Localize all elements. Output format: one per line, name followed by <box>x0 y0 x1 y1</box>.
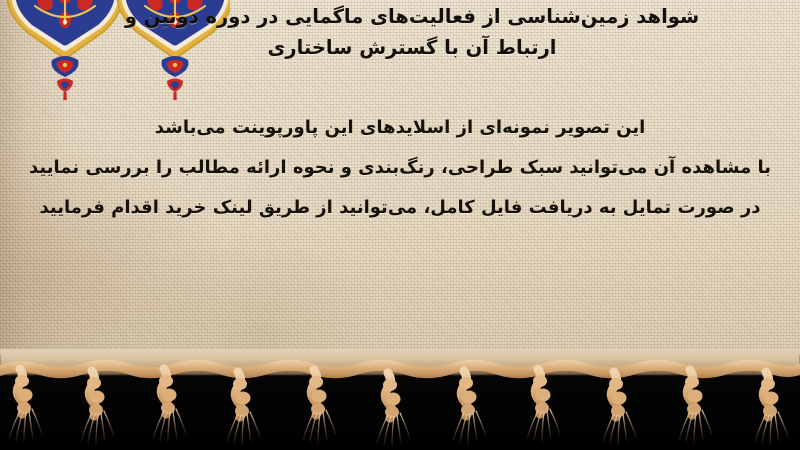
knotted-tassel-fringe-icon <box>0 345 800 450</box>
title-line-2: ارتباط آن با گسترش ساختاری <box>32 33 792 64</box>
slide-body: این تصویر نمونه‌ای از اسلایدهای این پاور… <box>10 108 790 228</box>
slide-title: شواهد زمین‌شناسی از فعالیت‌های ماگمایی د… <box>32 2 792 64</box>
carpet-fringe-zone <box>0 355 800 450</box>
body-line-2: با مشاهده آن می‌توانید سبک طراحی، رنگ‌بن… <box>10 148 790 188</box>
tassel-group <box>9 369 788 446</box>
title-line-1: شواهد زمین‌شناسی از فعالیت‌های ماگمایی د… <box>32 2 792 33</box>
body-line-3: در صورت تمایل به دریافت فایل کامل، می‌تو… <box>10 188 790 228</box>
slide-canvas: شواهد زمین‌شناسی از فعالیت‌های ماگمایی د… <box>0 0 800 450</box>
body-line-1: این تصویر نمونه‌ای از اسلایدهای این پاور… <box>10 108 790 148</box>
